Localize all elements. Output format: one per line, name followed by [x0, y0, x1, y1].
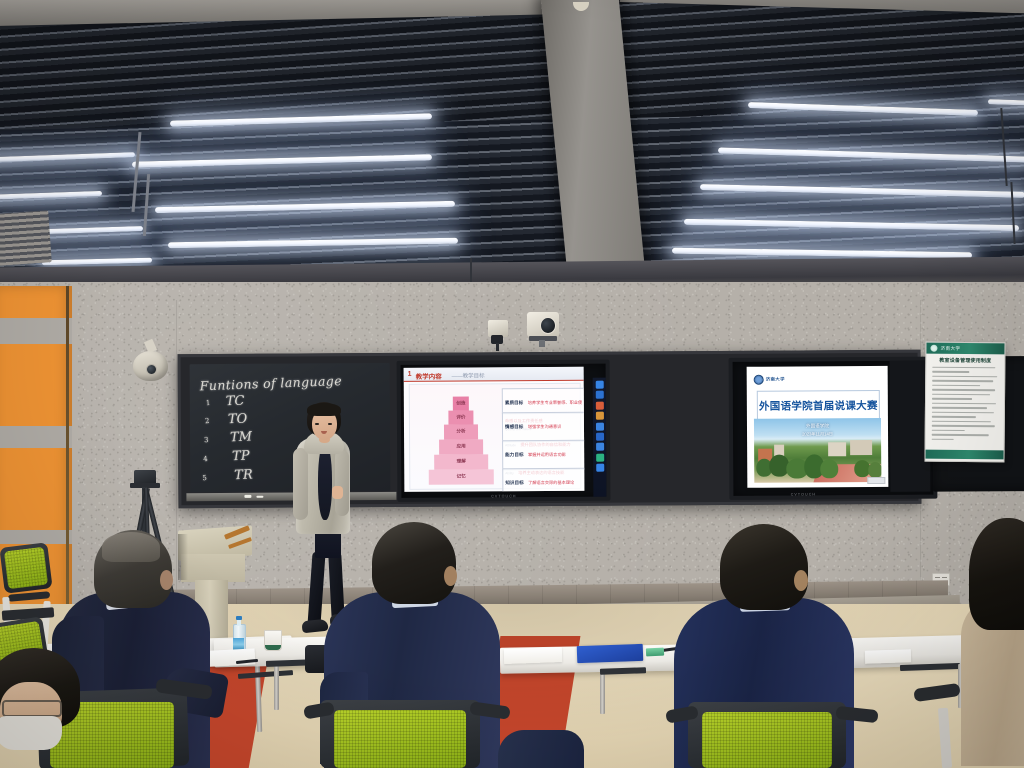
slide-header-subtitle: ——教学目标 — [452, 371, 485, 379]
left-smart-display[interactable]: 1 教学内容 ——教学目标 创造 评价 分析 应用 理解 记忆 — [397, 360, 611, 502]
presenter-arm-right — [335, 450, 349, 516]
slide-number: 1 — [408, 370, 412, 377]
attendee-figure — [498, 730, 584, 768]
attendee-shoulder — [498, 730, 584, 768]
objective-text: 掌握并运用语言功能 — [528, 452, 566, 457]
air-vent — [0, 210, 52, 266]
chair-frame — [938, 708, 952, 768]
pen-icon[interactable] — [595, 401, 603, 409]
chalkboard-item-text: TO — [228, 412, 248, 428]
judge-ear — [444, 566, 457, 586]
poster-body-text — [932, 367, 999, 444]
score-sheet[interactable] — [504, 647, 562, 664]
chair-mesh-panel — [4, 547, 48, 590]
presenter-eye — [315, 423, 319, 425]
paper-cup[interactable] — [264, 630, 282, 651]
pyramid-level: 评价 — [448, 410, 473, 425]
campus-building — [828, 442, 846, 456]
chalkboard-heading: Funtions of language — [199, 373, 342, 393]
table-leg — [600, 670, 605, 714]
judge-chair[interactable] — [688, 702, 878, 768]
chalkboard-item-number: 3 — [204, 436, 209, 444]
objective-label: 素质目标 — [505, 400, 523, 405]
settings-icon[interactable] — [596, 453, 604, 461]
presenter-hair-front — [307, 403, 341, 416]
pyramid-level: 创造 — [453, 396, 469, 411]
chalkboard-item-text: TM — [230, 429, 253, 445]
presenter-eye — [328, 423, 332, 425]
chalkboard-item-number: 1 — [206, 399, 211, 407]
poster-banner-top: 济南大学 — [926, 343, 1004, 355]
slide-title-box: 外国语学院首届说课大赛 — [757, 390, 880, 421]
objective-box: 情感目标 增强学生沟通意识 Attitude 提升团队协作的自信和能力 — [502, 412, 584, 443]
poster-banner-text: 济南大学 — [940, 345, 960, 351]
attendee-eyeglasses-icon — [2, 700, 62, 717]
dome-ptz-camera-icon — [133, 347, 168, 381]
pyramid-level: 理解 — [434, 454, 488, 470]
chair-mesh-panel — [702, 712, 832, 768]
attendee-mask — [0, 716, 62, 750]
right-smart-display[interactable]: 济南大学 外国语学院首届说课大赛 — [729, 357, 938, 500]
blue-folder[interactable] — [577, 644, 644, 663]
campus-building — [850, 440, 872, 455]
display-brand-label: CVTOUCH — [491, 494, 516, 498]
judge-hair — [720, 524, 808, 610]
poster-banner-bottom — [926, 450, 1004, 460]
judge-hair — [372, 522, 456, 604]
chalkboard-item-text: TR — [234, 467, 253, 483]
university-name: 济南大学 — [766, 377, 785, 383]
slide-control-button[interactable] — [867, 477, 885, 484]
camera-lens — [540, 317, 556, 334]
eraser-icon[interactable] — [595, 391, 603, 399]
regulations-poster: 济南大学 教室设备管理使用制度 — [924, 342, 1005, 463]
tracking-camera-icon — [488, 320, 508, 346]
classroom-photo-scene: Funtions of language 1 TC 2 TO 3 TM 4 TP… — [0, 0, 1024, 768]
annotate-icon[interactable] — [595, 381, 603, 389]
slide-header-title: 教学内容 — [416, 371, 442, 381]
slide-title: 外国语学院首届说课大赛 — [759, 397, 878, 413]
title-slide[interactable]: 济南大学 外国语学院首届说课大赛 — [747, 366, 889, 488]
poster-title: 教室设备管理使用制度 — [926, 357, 1004, 365]
presenter-hand — [332, 486, 343, 499]
shapes-icon[interactable] — [595, 422, 603, 430]
judge-ear — [160, 570, 173, 590]
blooms-taxonomy-pyramid: 创造 评价 分析 应用 理解 记忆 — [428, 396, 495, 484]
slide-subtitle-group: 外国语学院 2023年11月14日 — [747, 423, 888, 437]
objective-label: 情感目标 — [505, 424, 523, 429]
attendee-figure — [0, 648, 108, 768]
more-icon[interactable] — [596, 464, 604, 472]
display-side-toolbar[interactable] — [593, 378, 607, 497]
campus-tree — [820, 459, 838, 478]
cup-base-band — [265, 645, 281, 650]
display-brand-label: CVTOUCH — [791, 492, 816, 496]
ceiling — [0, 0, 1024, 292]
highlighter-icon[interactable] — [595, 412, 603, 420]
score-sheet[interactable] — [865, 649, 911, 664]
objective-label: 能力目标 — [505, 452, 523, 457]
poster-seal-icon — [930, 345, 937, 352]
objective-box: 素质目标 培养学生专业荣誉感、职业使命感以及工作责任感 Quality and … — [502, 388, 585, 415]
university-seal-icon — [754, 375, 764, 385]
wall-stripe — [0, 318, 72, 344]
chair-mesh-panel — [334, 710, 466, 768]
slide-subtitle-date: 2023年11月14日 — [747, 430, 888, 437]
camera-lens — [146, 364, 157, 375]
bottle-cap[interactable] — [236, 616, 242, 620]
pyramid-level: 分析 — [444, 424, 478, 440]
objective-text: 了解语言交际的基本理论 — [528, 480, 574, 485]
recording-camera-icon — [527, 312, 559, 346]
judge-ear — [794, 570, 808, 591]
attendee-hair — [969, 518, 1024, 630]
capture-icon[interactable] — [596, 433, 604, 441]
table-leg — [274, 662, 279, 710]
slide-body: 创造 评价 分析 应用 理解 记忆 素质目标 培养学生专业荣誉感、职业使命感以及… — [409, 383, 582, 490]
camera-mount — [496, 343, 499, 351]
wall-stripe — [0, 426, 72, 448]
chalkboard-item-text: TP — [232, 449, 250, 465]
university-logo: 济南大学 — [754, 375, 785, 385]
chalkboard-item-number: 4 — [203, 455, 208, 463]
teaching-objectives-slide[interactable]: 1 教学内容 ——教学目标 创造 评价 分析 应用 理解 记忆 — [404, 367, 585, 492]
pyramid-level: 记忆 — [429, 469, 494, 484]
chalk-piece[interactable] — [256, 495, 263, 498]
campus-tree — [868, 462, 881, 478]
pyramid-level: 应用 — [439, 439, 483, 455]
smartphone[interactable] — [646, 648, 664, 657]
objective-text: 增强学生沟通意识 — [528, 424, 562, 429]
chalk-piece[interactable] — [244, 495, 251, 498]
presenter-arm-left — [293, 448, 308, 520]
judge-hair-highlight — [102, 532, 160, 562]
camera-mount — [539, 340, 545, 347]
attendee-chair[interactable] — [932, 686, 1024, 768]
objective-box: 能力目标 掌握并运用语言功能 Ability 培养主动表达的语言技能 — [502, 440, 584, 471]
objective-box: 知识目标 了解语言交际的基本理论 Knowledge 掌握语言交际的术语与基本用… — [502, 468, 584, 492]
chalkboard-item-text: TC — [226, 394, 245, 410]
slide-header-bar: 1 教学内容 ——教学目标 — [404, 367, 584, 382]
objective-label: 知识目标 — [505, 480, 523, 485]
share-icon[interactable] — [596, 443, 604, 451]
slide-subtitle-org: 外国语学院 — [747, 423, 888, 430]
judge-chair[interactable] — [320, 700, 510, 768]
chalkboard-item-number: 2 — [205, 417, 210, 425]
